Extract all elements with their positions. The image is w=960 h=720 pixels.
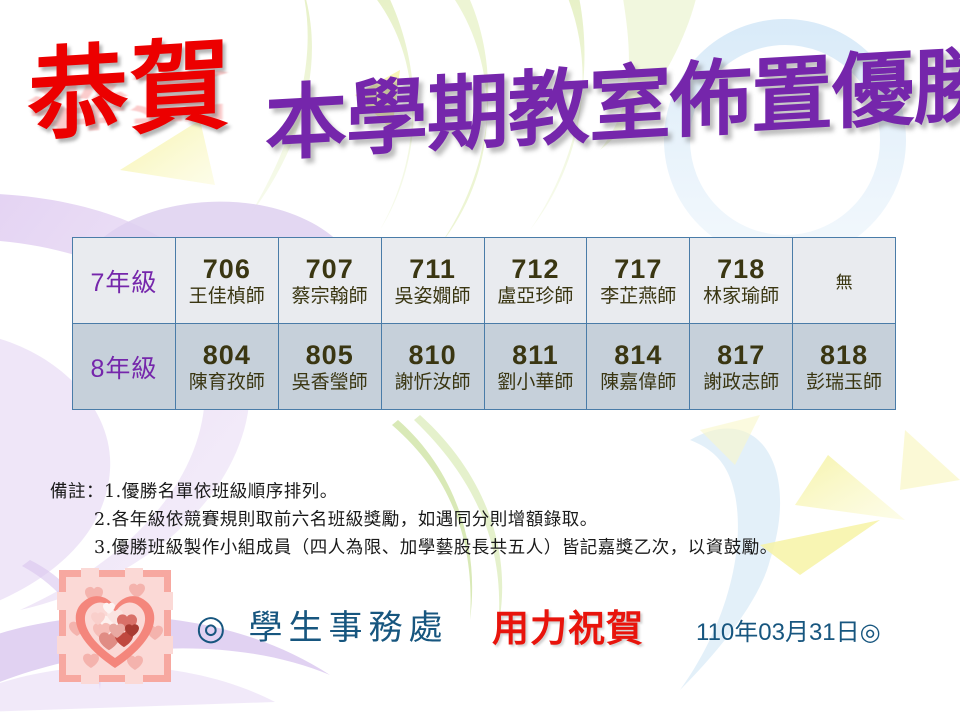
table-row: 7年級 706 王佳楨師 707 蔡宗翰師 711 吳姿嫺師 712 盧亞珍師 xyxy=(73,238,896,324)
bless-text: 用力祝賀 xyxy=(492,598,644,652)
date-label: 110年03月31日◎ xyxy=(696,612,881,647)
note-line-3: 3.優勝班級製作小組成員（四人為限、加學藝股長共五人）皆記嘉獎乙次，以資鼓勵。 xyxy=(50,534,940,562)
note-item-2: 2.各年級依競賽規則取前六名班級獎勵，如遇同分則增額錄取。 xyxy=(94,510,598,530)
class-cell: 805 吳香瑩師 xyxy=(278,324,381,410)
class-number: 805 xyxy=(279,340,381,370)
class-cell: 818 彭瑞玉師 xyxy=(793,324,896,410)
class-number: 814 xyxy=(587,340,689,370)
notes-label: 備註： xyxy=(50,482,104,502)
class-cell: 804 陳育孜師 xyxy=(175,324,278,410)
class-number: 818 xyxy=(793,340,895,370)
class-cell: 707 蔡宗翰師 xyxy=(278,238,381,324)
class-teacher: 陳育孜師 xyxy=(176,370,278,394)
class-cell-empty: 無 xyxy=(793,238,896,324)
class-teacher: 彭瑞玉師 xyxy=(793,370,895,394)
no-winner-label: 無 xyxy=(793,268,895,293)
class-number: 718 xyxy=(690,254,792,284)
class-number: 804 xyxy=(176,340,278,370)
note-line-2: 2.各年級依競賽規則取前六名班級獎勵，如遇同分則增額錄取。 xyxy=(50,506,940,534)
slide-canvas: 恭賀 恭賀 本學期教室佈置優勝班級 7年級 706 王佳楨師 707 蔡宗翰師 … xyxy=(0,0,960,720)
class-teacher: 陳嘉偉師 xyxy=(587,370,689,394)
class-teacher: 謝忻汝師 xyxy=(382,370,484,394)
class-number: 712 xyxy=(485,254,587,284)
class-teacher: 謝政志師 xyxy=(690,370,792,394)
class-cell: 811 劉小華師 xyxy=(484,324,587,410)
class-teacher: 王佳楨師 xyxy=(176,284,278,308)
class-cell: 706 王佳楨師 xyxy=(175,238,278,324)
class-teacher: 林家瑜師 xyxy=(690,284,792,308)
page-title: 恭賀 恭賀 本學期教室佈置優勝班級 xyxy=(0,14,960,184)
class-cell: 817 謝政志師 xyxy=(690,324,793,410)
office-label: ◎ 學生事務處 xyxy=(196,600,448,649)
class-cell: 810 謝忻汝師 xyxy=(381,324,484,410)
class-teacher: 吳姿嫺師 xyxy=(382,284,484,308)
note-item-3: 3.優勝班級製作小組成員（四人為限、加學藝股長共五人）皆記嘉獎乙次，以資鼓勵。 xyxy=(94,538,778,558)
class-number: 811 xyxy=(485,340,587,370)
class-cell: 717 李芷燕師 xyxy=(587,238,690,324)
class-number: 707 xyxy=(279,254,381,284)
class-teacher: 蔡宗翰師 xyxy=(279,284,381,308)
grade-label-8: 8年級 xyxy=(73,324,176,410)
class-teacher: 劉小華師 xyxy=(485,370,587,394)
heart-collage-icon xyxy=(55,566,175,686)
class-number: 810 xyxy=(382,340,484,370)
class-teacher: 吳香瑩師 xyxy=(279,370,381,394)
class-number: 717 xyxy=(587,254,689,284)
note-item-1: 1.優勝名單依班級順序排列。 xyxy=(104,482,338,502)
note-line-1: 備註：1.優勝名單依班級順序排列。 xyxy=(50,478,940,506)
grade-label-7: 7年級 xyxy=(73,238,176,324)
title-main-text: 本學期教室佈置優勝班級 xyxy=(265,33,960,167)
class-number: 706 xyxy=(176,254,278,284)
table-row: 8年級 804 陳育孜師 805 吳香瑩師 810 謝忻汝師 811 劉小華師 xyxy=(73,324,896,410)
winners-table: 7年級 706 王佳楨師 707 蔡宗翰師 711 吳姿嫺師 712 盧亞珍師 xyxy=(72,237,896,410)
congrats-text: 恭賀 xyxy=(28,34,232,146)
class-number: 711 xyxy=(382,254,484,284)
class-teacher: 李芷燕師 xyxy=(587,284,689,308)
class-number: 817 xyxy=(690,340,792,370)
class-cell: 711 吳姿嫺師 xyxy=(381,238,484,324)
class-cell: 712 盧亞珍師 xyxy=(484,238,587,324)
notes-block: 備註：1.優勝名單依班級順序排列。 2.各年級依競賽規則取前六名班級獎勵，如遇同… xyxy=(50,478,940,562)
class-cell: 718 林家瑜師 xyxy=(690,238,793,324)
class-teacher: 盧亞珍師 xyxy=(485,284,587,308)
class-cell: 814 陳嘉偉師 xyxy=(587,324,690,410)
